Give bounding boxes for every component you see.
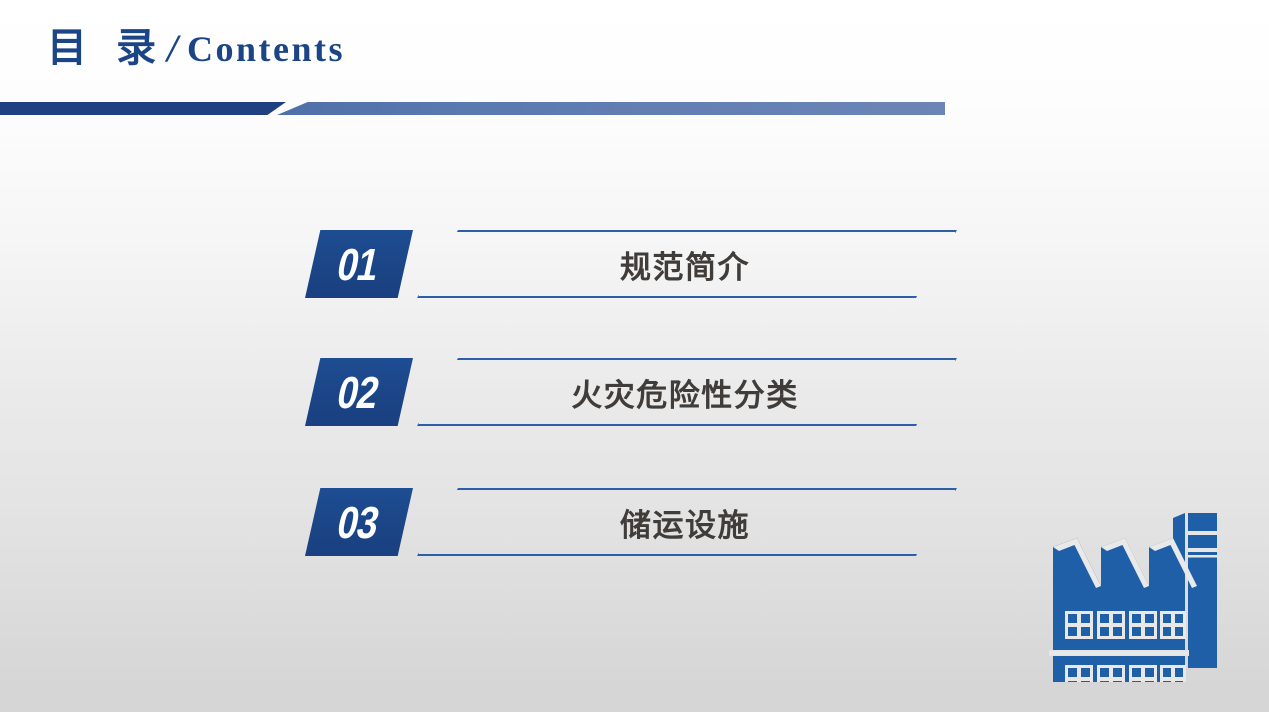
item-label-bar[interactable] [417,358,957,426]
item-number-badge: 02 [305,358,413,426]
item-number-text: 03 [334,500,383,545]
slide-canvas: 目 录 / Contents 01 规范简介 02 火灾危险性分类 [0,0,1269,712]
item-number-badge: 01 [305,230,413,298]
item-number-badge: 03 [305,488,413,556]
item-label-bar[interactable] [417,230,957,298]
factory-icon [1049,500,1225,682]
item-number-text: 02 [334,370,383,415]
item-number-text: 01 [334,242,383,287]
item-label-bar[interactable] [417,488,957,556]
